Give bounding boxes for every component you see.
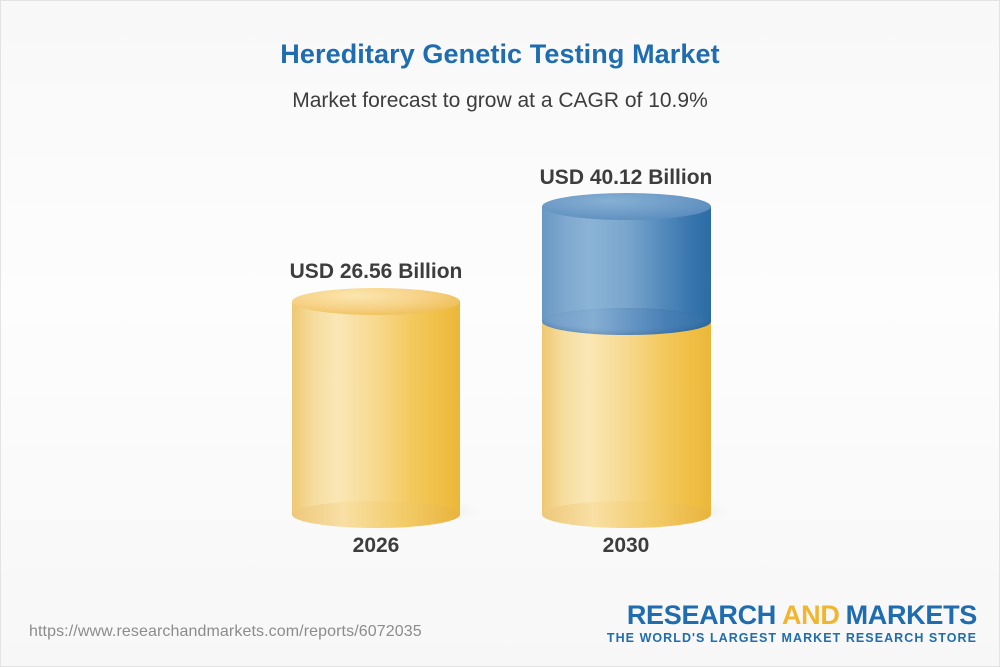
bar-2026-segment-base: [292, 301, 460, 514]
bar-2030-segment-growth: [542, 206, 711, 321]
logo-tagline: THE WORLD'S LARGEST MARKET RESEARCH STOR…: [607, 631, 977, 645]
bar-2030[interactable]: [542, 206, 711, 514]
bar-2030-segment-base: [542, 321, 711, 514]
cylinder-bottom-cap: [292, 501, 460, 528]
value-label-2026: USD 26.56 Billion: [276, 260, 476, 284]
chart-subtitle: Market forecast to grow at a CAGR of 10.…: [1, 89, 999, 113]
logo-word-and: AND: [782, 600, 840, 630]
value-label-2030: USD 40.12 Billion: [526, 166, 726, 190]
cylinder-body: [542, 321, 711, 514]
logo-wordmark: RESEARCHANDMARKETS: [607, 601, 977, 629]
cylinder-body: [542, 206, 711, 321]
category-label-2026: 2026: [276, 534, 476, 558]
chart-title: Hereditary Genetic Testing Market: [1, 39, 999, 70]
cylinder-body: [292, 301, 460, 514]
cylinder-top-cap: [292, 288, 460, 315]
bar-2026[interactable]: [292, 301, 460, 514]
chart-canvas: Hereditary Genetic Testing Market Market…: [0, 0, 1000, 667]
cylinder-mid-cap: [542, 308, 711, 335]
research-and-markets-logo[interactable]: RESEARCHANDMARKETS THE WORLD'S LARGEST M…: [607, 601, 977, 645]
logo-word-research: RESEARCH: [627, 600, 776, 630]
cylinder-bottom-cap: [542, 501, 711, 528]
category-label-2030: 2030: [526, 534, 726, 558]
logo-word-markets: MARKETS: [846, 600, 977, 630]
cylinder-top-cap: [542, 193, 711, 220]
source-url[interactable]: https://www.researchandmarkets.com/repor…: [29, 623, 422, 641]
